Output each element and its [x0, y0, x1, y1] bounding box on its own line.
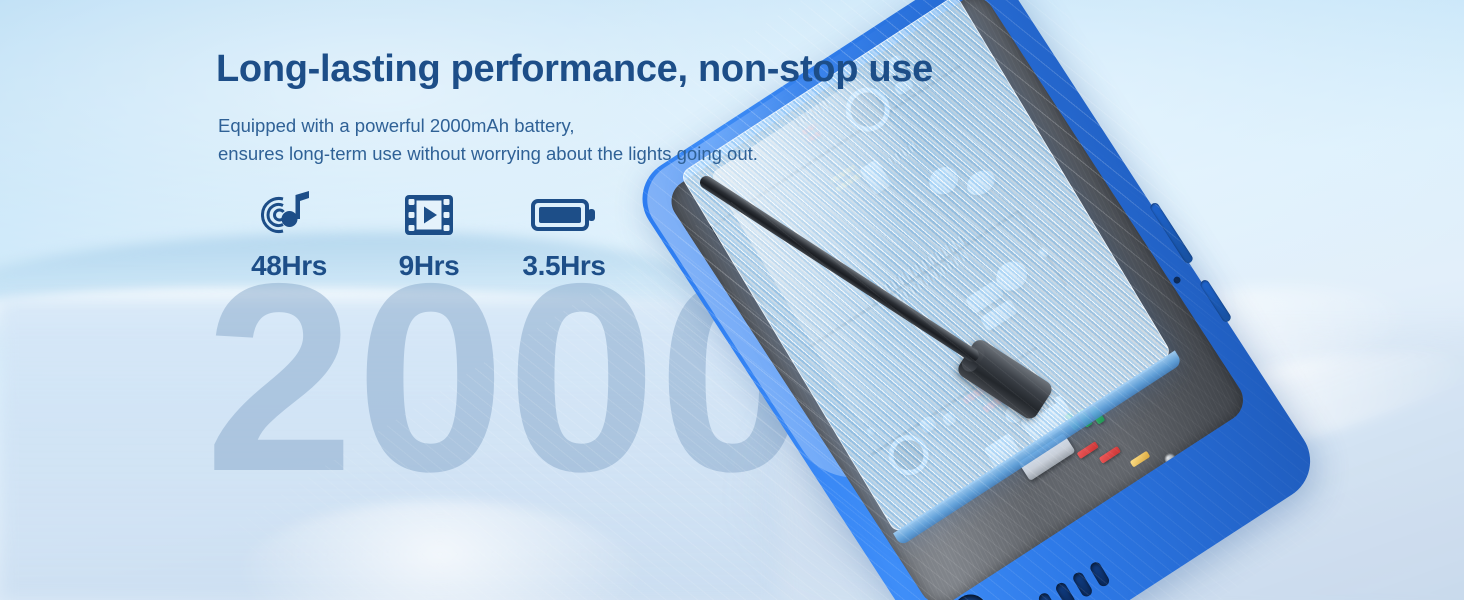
feature-music-label: 48Hrs — [251, 250, 327, 282]
video-film-icon — [403, 186, 455, 244]
feature-video-playtime: 9Hrs — [364, 186, 494, 282]
feature-music-playtime: 48Hrs — [214, 186, 364, 282]
grille-slot — [1054, 581, 1077, 600]
subtitle-line-1: Equipped with a powerful 2000mAh battery… — [218, 112, 758, 140]
feature-video-label: 9Hrs — [399, 250, 460, 282]
feature-list: 48Hrs 9Hrs — [214, 186, 634, 282]
page-title: Long-lasting performance, non-stop use — [216, 48, 933, 91]
music-note-icon — [261, 186, 317, 244]
battery-icon — [531, 186, 597, 244]
subtitle-line-2: ensures long-term use without worrying a… — [218, 140, 758, 168]
product-feature-banner: 2000mAh — [0, 0, 1464, 600]
feature-battery-label: 3.5Hrs — [522, 250, 605, 282]
feature-battery-playtime: 3.5Hrs — [494, 186, 634, 282]
grille-slot — [1071, 571, 1094, 599]
page-subtitle: Equipped with a powerful 2000mAh battery… — [218, 112, 758, 168]
